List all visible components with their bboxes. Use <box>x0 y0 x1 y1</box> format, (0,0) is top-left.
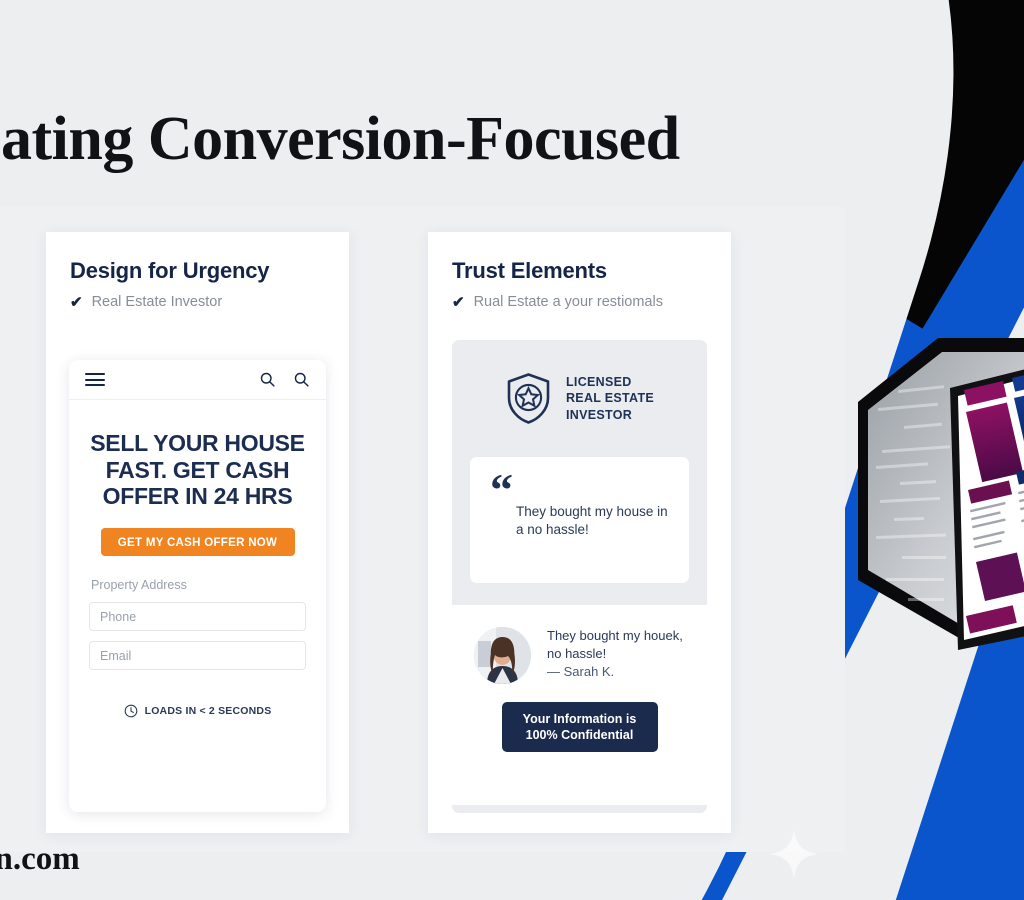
confidential-badge: Your Information is 100% Confidential <box>502 702 658 752</box>
avatar <box>474 627 531 684</box>
check-icon: ✔ <box>452 293 465 311</box>
search-icon[interactable] <box>259 371 276 388</box>
quote-text: They bought my house in a no hassle! <box>516 503 669 540</box>
quote-card: “ They bought my house in a no hassle! <box>470 457 689 583</box>
badge-line-2: REAL ESTATE <box>566 390 654 407</box>
slide-headline: eating Conversion-Focused <box>0 108 874 170</box>
testimonial-row: They bought my houek, no hassle! — Sarah… <box>474 627 685 684</box>
site-url: an.com <box>0 841 80 878</box>
slide-canvas: eating Conversion-Focused Design for Urg… <box>0 0 1024 900</box>
phone-input[interactable] <box>89 602 306 631</box>
laptop-tablet-mockup <box>846 330 1024 650</box>
check-icon: ✔ <box>70 293 83 311</box>
clock-icon <box>124 704 138 718</box>
panel-design-for-urgency: Design for Urgency ✔ Real Estate Investo… <box>46 232 349 833</box>
property-address-label: Property Address <box>91 578 306 592</box>
right-panel-subtitle: Rual Estate a your restiomals <box>474 294 663 310</box>
left-panel-subtitle: Real Estate Investor <box>92 294 223 310</box>
left-panel-subtitle-row: ✔ Real Estate Investor <box>46 284 349 311</box>
right-panel-title: Trust Elements <box>428 232 731 284</box>
quote-mark-icon: “ <box>490 467 513 513</box>
badge-line-3: INVESTOR <box>566 407 654 424</box>
badge-text-block: LICENSED REAL ESTATE INVESTOR <box>566 374 654 424</box>
testimonial-author: — Sarah K. <box>547 663 685 681</box>
confidential-line-2: 100% Confidential <box>508 727 652 743</box>
right-panel-subtitle-row: ✔ Rual Estate a your restiomals <box>428 284 731 311</box>
testimonial-quote: They bought my houek, no hassle! <box>547 627 685 663</box>
cta-get-cash-offer-button[interactable]: GET MY CASH OFFER NOW <box>101 528 295 556</box>
panel-trust-elements: Trust Elements ✔ Rual Estate a your rest… <box>428 232 731 833</box>
email-input[interactable] <box>89 641 306 670</box>
testimonial-text-block: They bought my houek, no hassle! — Sarah… <box>547 627 685 681</box>
confidential-line-1: Your Information is <box>508 711 652 727</box>
search-icon[interactable] <box>293 371 310 388</box>
load-speed-text: LOADS IN < 2 SECONDS <box>145 705 272 717</box>
phone-bar-icons <box>259 371 310 388</box>
shield-star-icon <box>505 372 552 425</box>
trust-mockup: LICENSED REAL ESTATE INVESTOR “ They bou… <box>452 340 707 813</box>
licensed-badge: LICENSED REAL ESTATE INVESTOR <box>452 340 707 425</box>
left-panel-title: Design for Urgency <box>46 232 349 284</box>
phone-headline: SELL YOUR HOUSE FAST. GET CASH OFFER IN … <box>89 430 306 510</box>
sparkle-icon <box>768 828 820 880</box>
phone-top-bar <box>69 360 326 400</box>
phone-mockup: SELL YOUR HOUSE FAST. GET CASH OFFER IN … <box>69 360 326 812</box>
badge-line-1: LICENSED <box>566 374 654 391</box>
load-speed-note: LOADS IN < 2 SECONDS <box>89 704 306 718</box>
testimonial-card: They bought my houek, no hassle! — Sarah… <box>452 605 707 805</box>
hamburger-icon[interactable] <box>85 370 105 390</box>
phone-body: SELL YOUR HOUSE FAST. GET CASH OFFER IN … <box>69 400 326 718</box>
